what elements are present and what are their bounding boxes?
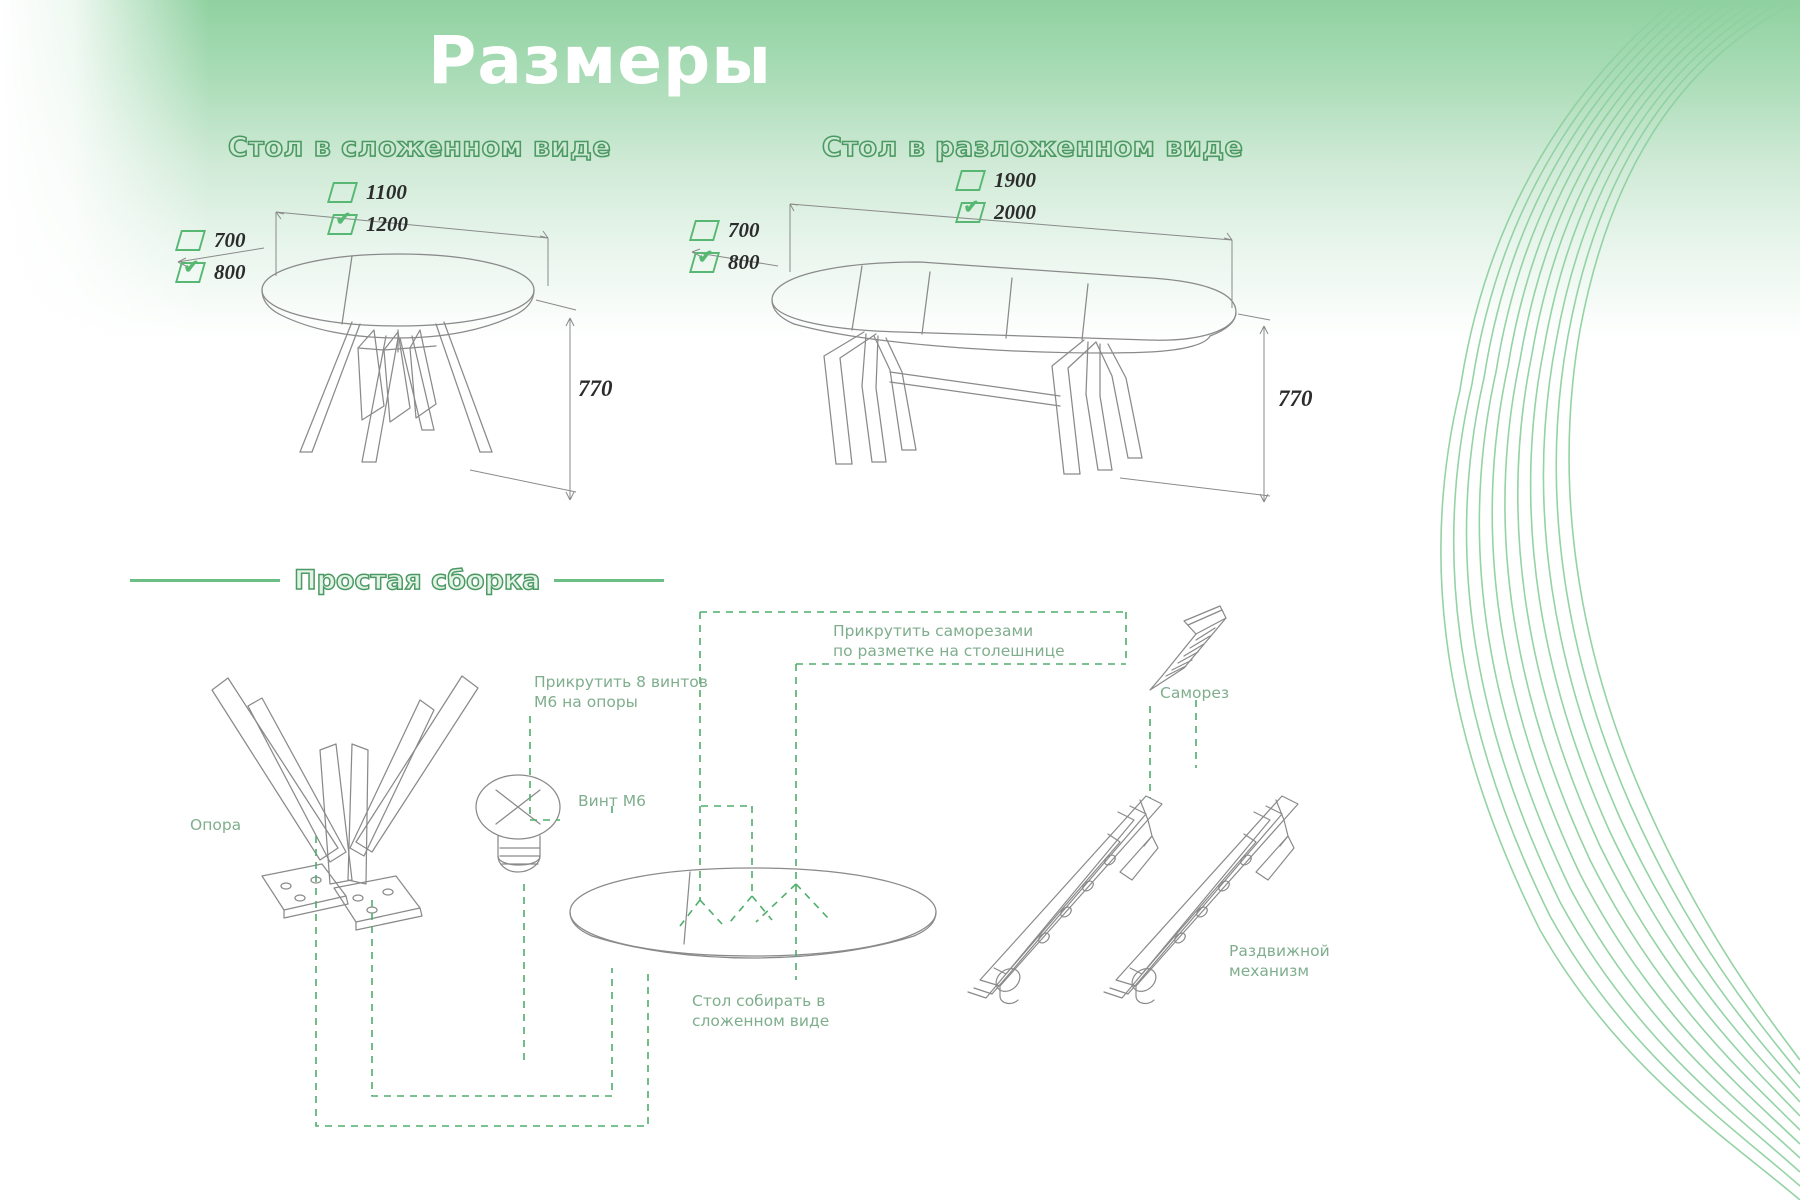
section-title-unfolded: Стол в разложенном виде — [822, 132, 1243, 163]
checkbox-checked-icon[interactable]: ✔ — [689, 252, 720, 273]
folded-width-options: 700 ✔ 800 — [178, 228, 246, 292]
section-title-folded: Стол в сложенном виде — [228, 132, 611, 163]
page-title: Размеры — [0, 22, 1200, 99]
checkbox-checked-icon[interactable]: ✔ — [955, 202, 986, 223]
option-row[interactable]: 1100 — [330, 180, 408, 205]
option-row[interactable]: ✔ 800 — [692, 250, 760, 275]
assembly-section-header: Простая сборка — [130, 558, 750, 602]
label-selftapping-screw: Саморез — [1160, 683, 1229, 703]
option-row[interactable]: ✔ 2000 — [958, 200, 1036, 225]
option-value: 700 — [214, 228, 246, 253]
option-row[interactable]: 700 — [692, 218, 760, 243]
option-value: 800 — [214, 260, 246, 285]
option-value: 800 — [728, 250, 760, 275]
note-assemble-folded: Стол собирать в сложенном виде — [692, 991, 829, 1032]
divider-line-right — [554, 579, 664, 582]
option-value: 1900 — [994, 168, 1036, 193]
label-slide-mechanism: Раздвижной механизм — [1229, 941, 1330, 982]
option-value: 1100 — [366, 180, 407, 205]
label-support-leg: Опора — [190, 815, 241, 835]
folded-height-value: 770 — [578, 376, 613, 402]
infographic-page: Размеры Стол в сложенном виде Стол в раз… — [0, 0, 1800, 1200]
unfolded-length-options: 1900 ✔ 2000 — [958, 168, 1036, 232]
unfolded-height-value: 770 — [1278, 386, 1313, 412]
checkbox-unchecked-icon[interactable] — [175, 230, 206, 251]
option-row[interactable]: ✔ 800 — [178, 260, 246, 285]
checkbox-checked-icon[interactable]: ✔ — [327, 214, 358, 235]
annotation-screws-to-legs: Прикрутить 8 винтов М6 на опоры — [534, 672, 708, 713]
checkbox-unchecked-icon[interactable] — [955, 170, 986, 191]
divider-line-left — [130, 579, 280, 582]
checkbox-unchecked-icon[interactable] — [327, 182, 358, 203]
option-row[interactable]: ✔ 1200 — [330, 212, 408, 237]
option-row[interactable]: 1900 — [958, 168, 1036, 193]
checkbox-checked-icon[interactable]: ✔ — [175, 262, 206, 283]
unfolded-width-options: 700 ✔ 800 — [692, 218, 760, 282]
option-row[interactable]: 700 — [178, 228, 246, 253]
folded-length-options: 1100 ✔ 1200 — [330, 180, 408, 244]
checkbox-unchecked-icon[interactable] — [689, 220, 720, 241]
annotation-selftapping-screws: Прикрутить саморезами по разметке на сто… — [833, 621, 1065, 662]
option-value: 1200 — [366, 212, 408, 237]
label-bolt-m6: Винт М6 — [578, 791, 646, 811]
assembly-header-label: Простая сборка — [294, 565, 540, 596]
option-value: 700 — [728, 218, 760, 243]
option-value: 2000 — [994, 200, 1036, 225]
